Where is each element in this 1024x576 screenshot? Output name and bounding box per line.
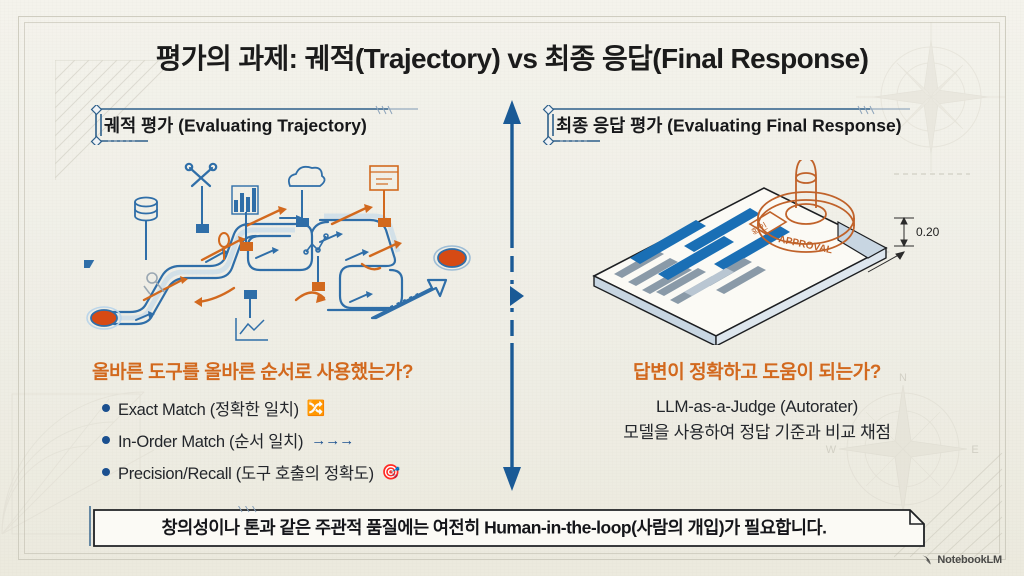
notebooklm-watermark: NotebookLM [919, 553, 1002, 566]
arrow-head-up [503, 100, 521, 124]
section-header-final-response-label: 최종 응답 평가 (Evaluating Final Response) [556, 113, 902, 138]
shuffle-icon: 🔀 [307, 401, 325, 416]
bullet-dot-icon [102, 436, 110, 444]
final-response-question: 답변이 정확하고 도움이 되는가? [538, 357, 976, 384]
criterion-label: Precision/Recall (도구 호출의 정확도) [118, 460, 374, 484]
section-header-trajectory-label: 궤적 평가 (Evaluating Trajectory) [104, 113, 367, 138]
section-header-trajectory: 궤적 평가 (Evaluating Trajectory) [88, 105, 443, 145]
final-response-description: LLM-as-a-Judge (Autorater) 모델을 사용하여 정답 기… [538, 394, 976, 445]
column-final-response: 확인 APPROVAL 0.20 [538, 160, 976, 445]
footer-banner: 창의성이나 톤과 같은 주관적 품질에는 여전히 Human-in-the-lo… [88, 506, 926, 548]
description-line-1: LLM-as-a-Judge (Autorater) [538, 394, 976, 420]
footer-banner-text: 창의성이나 톤과 같은 주관적 품질에는 여전히 Human-in-the-lo… [88, 515, 900, 540]
criterion-label: In-Order Match (순서 일치) [118, 428, 303, 452]
list-item: Precision/Recall (도구 호출의 정확도) 🎯 [102, 460, 484, 484]
path-start-node [87, 307, 121, 329]
arrow-head-down [503, 467, 521, 491]
list-item: Exact Match (정확한 일치) 🔀 [102, 396, 484, 420]
section-header-final-response: 최종 응답 평가 (Evaluating Final Response) [540, 105, 970, 145]
trajectory-illustration [84, 160, 484, 345]
description-line-2: 모델을 사용하여 정답 기준과 비교 채점 [538, 420, 976, 446]
tool-node-plot-panel [236, 290, 268, 340]
page-title: 평가의 과제: 궤적(Trajectory) vs 최종 응답(Final Re… [0, 37, 1024, 77]
path-end-node [434, 246, 470, 270]
criterion-label: Exact Match (정확한 일치) [118, 396, 299, 420]
tool-node-database [84, 198, 157, 269]
isometric-stamped-document: 확인 APPROVAL 0.20 [538, 160, 976, 345]
tool-node-orange-marker [219, 233, 229, 260]
tool-node-wrench-screwdriver [186, 164, 216, 233]
target-icon: 🎯 [382, 465, 400, 480]
trajectory-criteria-list: Exact Match (정확한 일치) 🔀 In-Order Match (순… [84, 396, 484, 484]
dimension-value: 0.20 [916, 225, 940, 239]
bullet-dot-icon [102, 404, 110, 412]
tool-node-graph-line [304, 234, 328, 291]
arrows-sequence-icon: →→→ [311, 433, 353, 448]
list-item: In-Order Match (순서 일치) →→→ [102, 428, 484, 452]
center-marker-triangle [510, 286, 524, 306]
notebooklm-label: NotebookLM [937, 554, 1002, 566]
column-trajectory: 올바른 도구를 올바른 순서로 사용했는가? Exact Match (정확한 … [84, 160, 484, 492]
vertical-double-arrow-icon [497, 98, 527, 493]
trajectory-question: 올바른 도구를 올바른 순서로 사용했는가? [84, 357, 484, 384]
approval-document-illustration: 확인 APPROVAL 0.20 [538, 160, 976, 345]
winding-path-diagram [84, 160, 484, 345]
notebooklm-spiral-icon [919, 553, 932, 566]
bullet-dot-icon [102, 468, 110, 476]
